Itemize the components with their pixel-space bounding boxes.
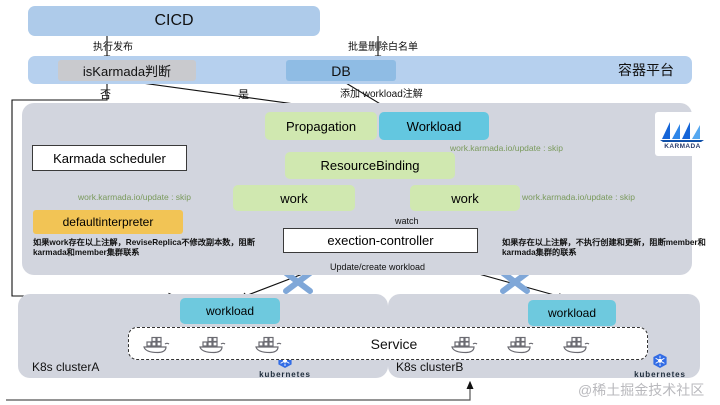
watermark: @稀土掘金技术社区 <box>578 380 704 400</box>
docker-icon <box>141 333 171 355</box>
karmada-sailboat-icon <box>659 119 707 143</box>
work-box-left[interactable]: work <box>233 185 355 211</box>
cluster-b-name-label: K8s clusterB <box>396 360 463 374</box>
work-left-label: work <box>280 191 307 206</box>
service-label: Service <box>371 336 418 352</box>
resourcebinding-box[interactable]: ResourceBinding <box>285 152 455 179</box>
diagram-canvas: CICD 执行发布 批量删除白名单 容器平台 isKarmada判断 DB 否 … <box>0 0 720 405</box>
workload-box[interactable]: Workload <box>379 112 489 140</box>
cluster-b-workload-label: workload <box>548 306 596 320</box>
db-box[interactable]: DB <box>286 60 396 81</box>
docker-icon <box>197 333 227 355</box>
edge-label-add-annotation: 添加 workload注解 <box>340 85 423 100</box>
container-platform-label: 容器平台 <box>618 60 674 80</box>
edge-label-update-create: Update/create workload <box>330 262 425 272</box>
cluster-b-kubernetes-label: kubernetes <box>634 370 686 379</box>
kubernetes-icon <box>652 353 668 369</box>
note-right: 如果存在以上注解，不执行创建和更新，阻断member和karmada集群的联系 <box>502 238 714 259</box>
branch-label-yes: 是 <box>238 86 249 102</box>
docker-icons-right <box>449 333 649 356</box>
annotation-skip-3: work.karmada.io/update : skip <box>522 192 635 202</box>
edge-label-publish: 执行发布 <box>93 38 133 53</box>
propagation-box[interactable]: Propagation <box>265 112 377 140</box>
is-karmada-decision-box[interactable]: isKarmada判断 <box>58 60 196 81</box>
db-label: DB <box>331 63 350 79</box>
branch-label-no: 否 <box>100 86 111 102</box>
cluster-a-kubernetes-label: kubernetes <box>259 370 311 379</box>
docker-icon <box>449 333 479 355</box>
propagation-label: Propagation <box>286 119 356 134</box>
resourcebinding-label: ResourceBinding <box>320 158 419 173</box>
docker-icons-left <box>141 333 341 356</box>
exection-controller-label: exection-controller <box>327 233 433 248</box>
exection-controller-box[interactable]: exection-controller <box>283 228 478 253</box>
annotation-skip-1: work.karmada.io/update : skip <box>450 143 563 153</box>
note-left: 如果work存在以上注解，ReviseReplica不修改副本数，阻断karma… <box>33 238 258 259</box>
workload-label: Workload <box>407 119 462 134</box>
cluster-a-workload-box[interactable]: workload <box>180 298 280 324</box>
docker-icon <box>561 333 591 355</box>
cluster-a-name-label: K8s clusterA <box>32 360 99 374</box>
karmada-logo-text: KARMADA <box>664 143 700 150</box>
cicd-bar[interactable]: CICD <box>28 6 320 36</box>
edge-label-watch: watch <box>395 216 419 226</box>
cluster-b-workload-box[interactable]: workload <box>528 300 616 326</box>
defaultinterpreter-label: defaultinterpreter <box>63 215 154 229</box>
cicd-label: CICD <box>154 12 193 30</box>
defaultinterpreter-box[interactable]: defaultinterpreter <box>33 210 183 234</box>
karmada-scheduler-box[interactable]: Karmada scheduler <box>32 145 187 171</box>
work-box-right[interactable]: work <box>410 185 520 211</box>
docker-icon <box>253 333 283 355</box>
cluster-a-workload-label: workload <box>206 304 254 318</box>
karmada-logo: KARMADA <box>655 112 710 156</box>
karmada-scheduler-label: Karmada scheduler <box>53 151 166 166</box>
work-right-label: work <box>451 191 478 206</box>
edge-label-batch-delete: 批量删除白名单 <box>348 38 418 53</box>
is-karmada-decision-label: isKarmada判断 <box>83 61 171 80</box>
service-strip: Service <box>128 327 648 360</box>
docker-icon <box>505 333 535 355</box>
annotation-skip-2: work.karmada.io/update : skip <box>78 192 191 202</box>
service-label-wrap: Service <box>349 334 439 354</box>
